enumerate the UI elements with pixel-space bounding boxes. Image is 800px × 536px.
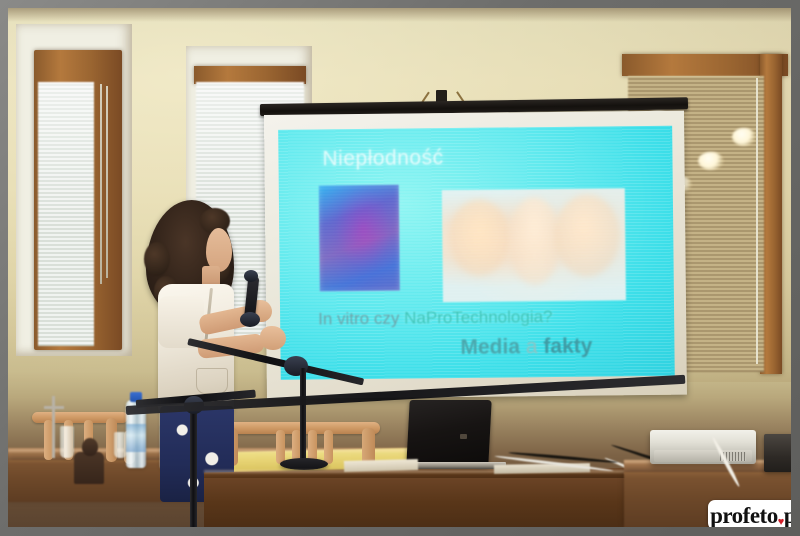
- screen-surface: Niepłodność In vitro czy: [264, 111, 687, 399]
- bottle-label: [126, 424, 146, 452]
- conference-photo: Niepłodność In vitro czy: [8, 8, 791, 527]
- blind-glow-left: [38, 82, 94, 346]
- drinking-glass-1: [60, 426, 74, 458]
- blind-cord-left: [100, 84, 102, 284]
- blind-cord-right: [756, 78, 758, 364]
- heart-icon: ♥: [778, 517, 784, 528]
- presenter-hand-open: [260, 326, 286, 350]
- chair-slat: [324, 430, 333, 464]
- slide-subtitle: In vitro czy NaProTechnologia?: [318, 307, 553, 329]
- laptop: [402, 400, 510, 474]
- slide-image-lab-glare: [319, 185, 400, 292]
- crucifix-arm: [44, 406, 64, 409]
- slide-subtitle-part1: In vitro: [318, 309, 369, 329]
- papers-on-desk: [344, 459, 418, 472]
- microphone-head: [244, 270, 258, 282]
- slide-subtitle-part3: NaProTechnologia?: [404, 307, 553, 328]
- speaker-box: [764, 434, 791, 472]
- slide-image-family: [442, 188, 626, 302]
- light-reflection-3: [698, 152, 724, 170]
- front-desk-body: [204, 478, 674, 527]
- bust-statue-head: [82, 438, 98, 456]
- window-blinds-left: [38, 82, 94, 346]
- watermark-text: profeto♥pl: [710, 504, 791, 527]
- presenter-pocket: [196, 368, 228, 394]
- slide-image-lab: [319, 185, 400, 292]
- blind-cord-left-2: [106, 86, 108, 278]
- mic-clip: [240, 312, 260, 327]
- window-left: [16, 24, 132, 356]
- laptop-logo: [460, 434, 467, 439]
- slide-heading: Media a fakty: [460, 335, 592, 360]
- laptop-lid: [406, 400, 491, 466]
- projection-screen: Niepłodność In vitro czy: [260, 104, 692, 404]
- watermark-tld: pl: [784, 503, 791, 528]
- watermark-profeto: profeto♥pl: [708, 500, 791, 527]
- slide-subtitle-part2: czy: [374, 309, 400, 328]
- slide-heading-part1: Media: [460, 335, 520, 359]
- mic-stand-base: [280, 458, 328, 470]
- ceiling-shadow: [8, 8, 791, 22]
- mic-stand-pole: [300, 368, 306, 464]
- slide-heading-part3: fakty: [543, 335, 592, 359]
- bust-statue: [74, 452, 104, 484]
- mic-stand-pole-2: [190, 406, 197, 527]
- slide-content: Niepłodność In vitro czy: [278, 126, 675, 380]
- hair-curl: [144, 242, 170, 276]
- slide-title: Niepłodność: [322, 146, 443, 171]
- projector: [650, 430, 756, 464]
- watermark-brand: profeto: [710, 503, 778, 528]
- photo-border: Niepłodność In vitro czy: [0, 0, 800, 536]
- slide-image-family-glare: [442, 188, 626, 302]
- slide-heading-part2: a: [526, 335, 538, 358]
- light-reflection-2: [732, 128, 756, 146]
- slide-canvas: Niepłodność In vitro czy: [278, 126, 675, 380]
